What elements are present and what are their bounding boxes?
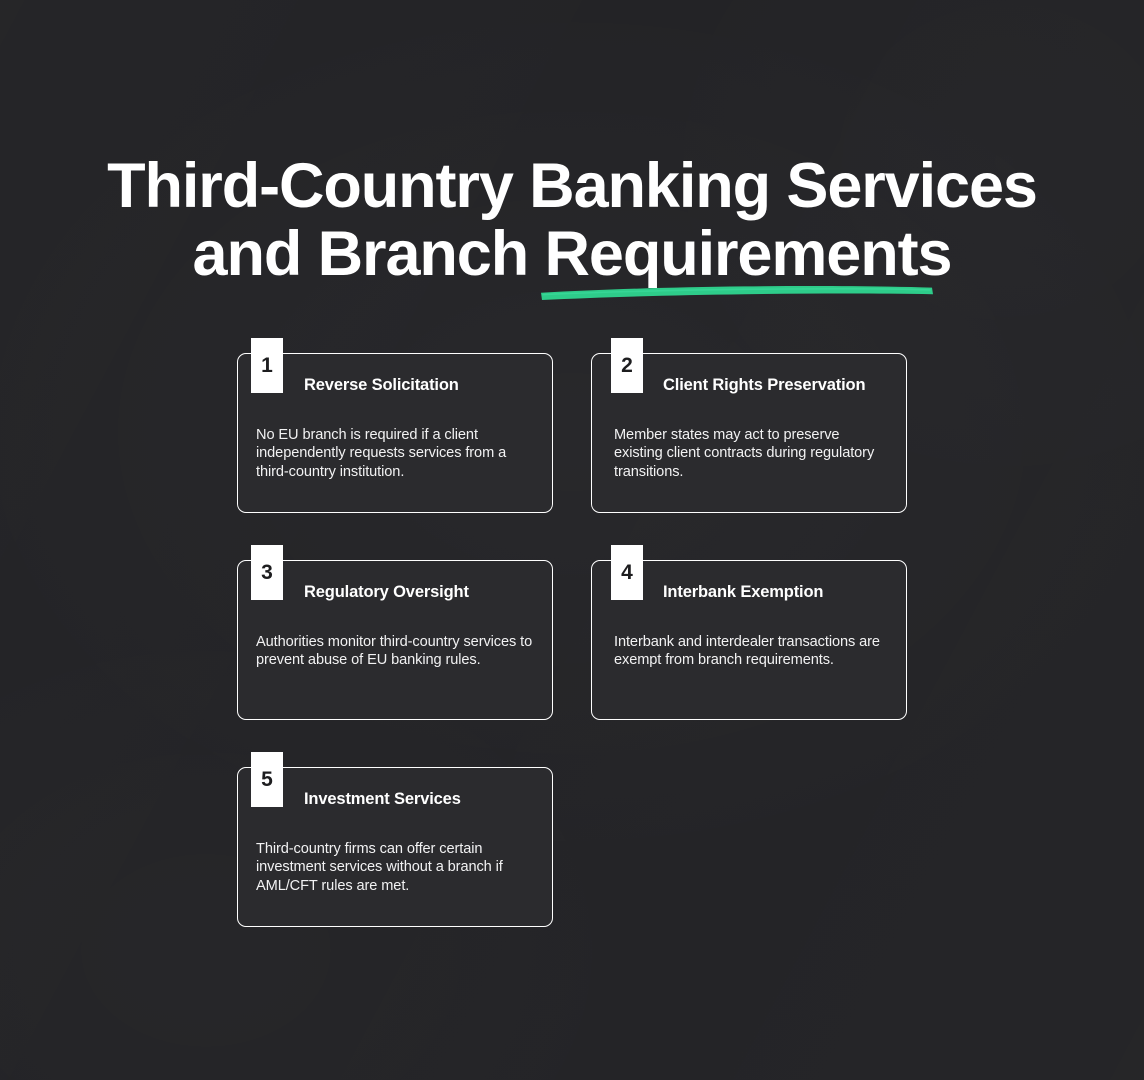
card-5[interactable]: 5 Investment Services Third-country firm… — [237, 767, 553, 927]
page-title-line-1: Third-Country Banking Services — [0, 152, 1144, 220]
card-4-body: Interbank and interdealer transactions a… — [614, 633, 892, 670]
card-5-body: Third-country firms can offer certain in… — [256, 840, 536, 895]
page-title-line-2: and Branch Requirements — [0, 220, 1144, 288]
card-3-body: Authorities monitor third-country servic… — [256, 633, 536, 670]
card-5-number-badge: 5 — [251, 752, 283, 807]
card-1-number-badge: 1 — [251, 338, 283, 393]
card-4[interactable]: 4 Interbank Exemption Interbank and inte… — [591, 560, 907, 720]
cards-row-3: 5 Investment Services Third-country firm… — [237, 767, 907, 927]
page-title: Third-Country Banking Services and Branc… — [0, 152, 1144, 288]
cards-row-1: 1 Reverse Solicitation No EU branch is r… — [237, 353, 907, 513]
card-1[interactable]: 1 Reverse Solicitation No EU branch is r… — [237, 353, 553, 513]
card-2[interactable]: 2 Client Rights Preservation Member stat… — [591, 353, 907, 513]
card-3-title: Regulatory Oversight — [304, 581, 469, 603]
card-1-title: Reverse Solicitation — [304, 374, 459, 396]
card-1-body: No EU branch is required if a client ind… — [256, 426, 536, 481]
card-5-title: Investment Services — [304, 788, 461, 810]
card-3[interactable]: 3 Regulatory Oversight Authorities monit… — [237, 560, 553, 720]
card-2-number-badge: 2 — [611, 338, 643, 393]
card-4-title: Interbank Exemption — [663, 581, 823, 603]
card-2-body: Member states may act to preserve existi… — [614, 426, 892, 481]
card-3-number-badge: 3 — [251, 545, 283, 600]
infographic-page: Third-Country Banking Services and Branc… — [0, 0, 1144, 1080]
cards-row-2: 3 Regulatory Oversight Authorities monit… — [237, 560, 907, 720]
card-2-title: Client Rights Preservation — [663, 374, 865, 396]
card-4-number-badge: 4 — [611, 545, 643, 600]
cards-grid: 1 Reverse Solicitation No EU branch is r… — [237, 353, 907, 974]
